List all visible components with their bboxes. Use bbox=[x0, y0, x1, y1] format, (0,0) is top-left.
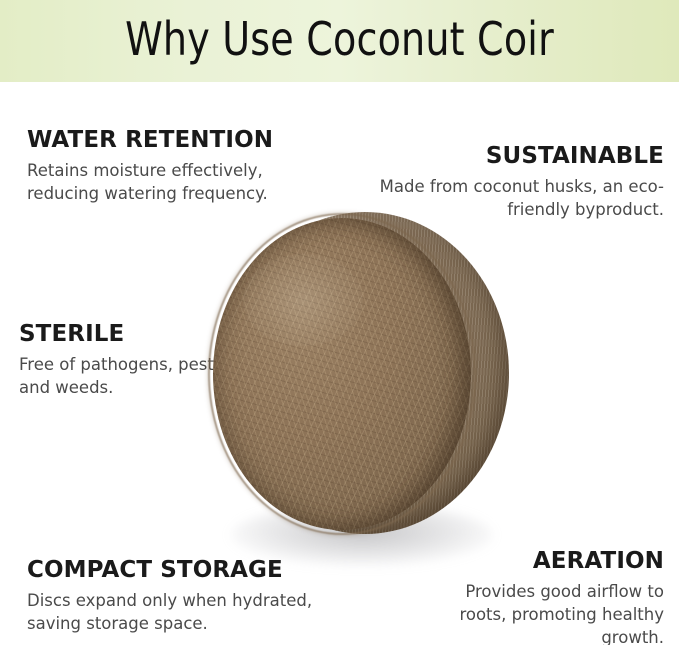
infographic-canvas: Why Use Coconut Coir WATER RETENTION Ret… bbox=[0, 0, 679, 645]
feature-description: Discs expand only when hydrated, saving … bbox=[27, 589, 337, 635]
feature-description: Retains moisture effectively, reducing w… bbox=[27, 159, 327, 205]
feature-title: WATER RETENTION bbox=[27, 126, 327, 155]
feature-description: Provides good airflow to roots, promotin… bbox=[414, 580, 664, 645]
disc-fiber-edge bbox=[210, 215, 474, 533]
feature-title: SUSTAINABLE bbox=[374, 142, 664, 171]
coconut-coir-disc-image bbox=[213, 208, 509, 576]
feature-water-retention: WATER RETENTION Retains moisture effecti… bbox=[27, 126, 327, 205]
header-band: Why Use Coconut Coir bbox=[0, 0, 679, 82]
page-title: Why Use Coconut Coir bbox=[27, 8, 652, 70]
